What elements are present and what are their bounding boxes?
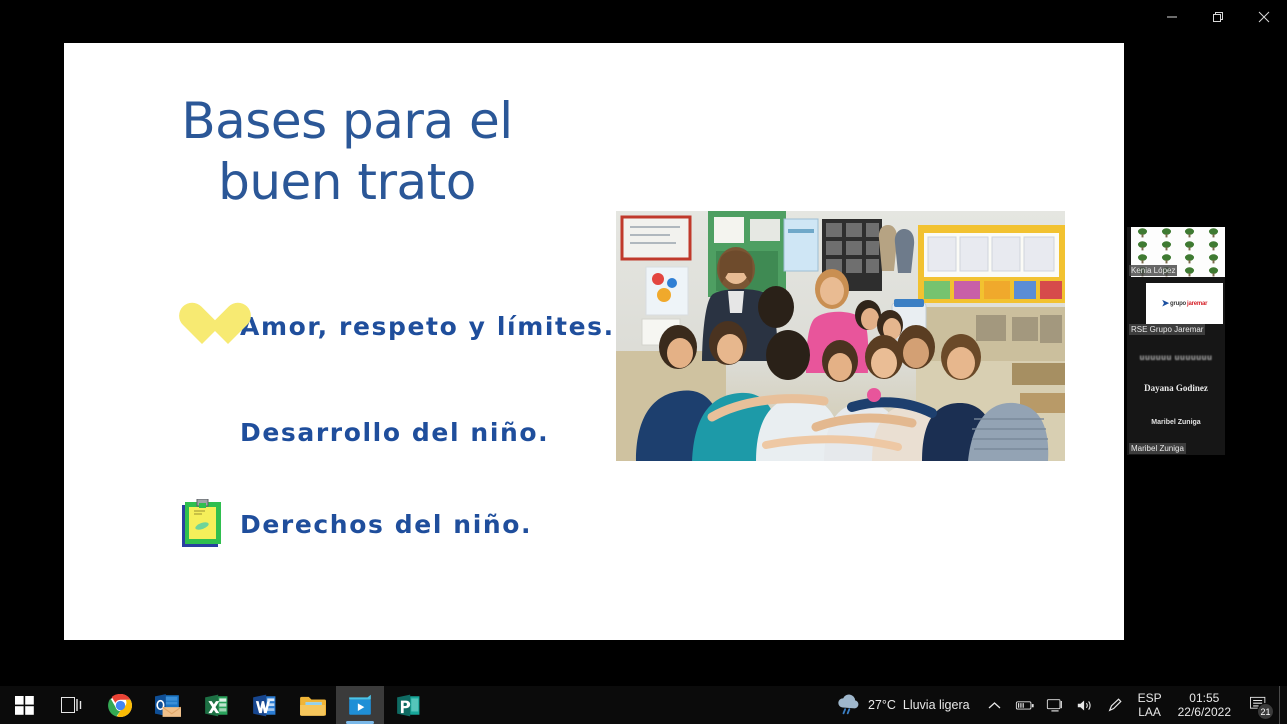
slide-title-line-1: Bases para el (181, 92, 512, 150)
word-icon (252, 693, 276, 718)
file-explorer-taskbar-icon[interactable] (288, 686, 336, 724)
folder-icon (299, 694, 326, 717)
language-indicator[interactable]: ESP LAA (1130, 686, 1170, 724)
outlook-icon (155, 693, 181, 717)
show-desktop-button[interactable] (1279, 686, 1287, 724)
word-taskbar-icon[interactable] (240, 686, 288, 724)
participant-avatar-name: Dayana Godinez (1127, 383, 1225, 393)
publisher-taskbar-icon[interactable] (384, 686, 432, 724)
notification-count-badge: 21 (1257, 703, 1274, 720)
pen-tray-icon[interactable] (1100, 686, 1130, 724)
pen-icon (1107, 697, 1123, 713)
slide-bullet-derechos: Derechos del niño. (164, 493, 532, 555)
network-tray-icon[interactable] (1040, 686, 1070, 724)
participant-avatar-name: Maribel Zuniga (1127, 419, 1225, 426)
participant-tile-dayana-godinez[interactable]: Dayana Godinez (1127, 377, 1225, 413)
slide-title: Bases para el buen trato (127, 91, 567, 213)
tree-icon (1136, 227, 1149, 240)
outlook-taskbar-icon[interactable] (144, 686, 192, 724)
tree-icon (1160, 240, 1173, 253)
volume-tray-icon[interactable] (1070, 686, 1100, 724)
tree-icon (1207, 266, 1220, 277)
show-hidden-icons-button[interactable] (980, 686, 1010, 724)
participant-tile-kenia-lopez[interactable]: Kenia López (1127, 227, 1225, 277)
rain-cloud-icon (836, 694, 861, 716)
notifications-button[interactable]: 21 (1239, 686, 1279, 724)
slide-bullet-label: Derechos del niño. (240, 510, 532, 539)
excel-taskbar-icon[interactable] (192, 686, 240, 724)
tree-icon (1160, 227, 1173, 240)
clock-date: 22/6/2022 (1178, 705, 1231, 719)
tree-icon (1207, 240, 1220, 253)
excel-icon (204, 693, 228, 718)
participant-name-label: Kenia López (1129, 265, 1177, 276)
windows-logo-icon (15, 696, 34, 715)
task-view-button[interactable] (48, 686, 96, 724)
chrome-icon (108, 693, 133, 718)
movies-tv-icon (347, 693, 373, 717)
battery-tray-icon[interactable] (1010, 686, 1040, 724)
tree-icon (1183, 240, 1196, 253)
heart-icon (164, 295, 240, 357)
presentation-slide: Bases para el buen trato Amor, respeto y… (64, 43, 1124, 640)
task-view-icon (61, 696, 83, 714)
tree-icon (1136, 240, 1149, 253)
windows-taskbar: 27°C Lluvia ligera (0, 686, 1287, 724)
slide-bullet-label: Desarrollo del niño. (240, 418, 549, 447)
participant-tile-rse-grupo-jaremar[interactable]: ➤grupojaremar RSE Grupo Jaremar (1127, 279, 1225, 336)
clock-and-date[interactable]: 01:55 22/6/2022 (1170, 686, 1239, 724)
slide-bullet-desarrollo: Desarrollo del niño. (164, 401, 549, 463)
classroom-children-hug-photo (616, 211, 1065, 461)
clipboard-icon (164, 493, 240, 555)
slide-title-line-2: buen trato (127, 152, 567, 213)
language-line-1: ESP (1138, 691, 1162, 705)
window-titlebar (0, 0, 1287, 34)
weather-temperature: 27°C (868, 698, 896, 712)
video-call-participant-strip[interactable]: Kenia López ➤grupojaremar RSE Grupo Jare… (1127, 227, 1225, 455)
speaker-icon (1076, 698, 1094, 713)
media-player-window: Bases para el buen trato Amor, respeto y… (0, 0, 1287, 686)
jaremar-logo: ➤grupojaremar (1162, 299, 1208, 308)
slide-bullet-label: Amor, respeto y límites. (240, 312, 615, 341)
weather-widget[interactable]: 27°C Lluvia ligera (832, 686, 980, 724)
tree-icon (1207, 227, 1220, 240)
system-tray: 27°C Lluvia ligera (832, 686, 1287, 724)
tree-icon (1183, 253, 1196, 266)
tree-icon (1183, 266, 1196, 277)
clock-time: 01:55 (1189, 691, 1219, 705)
participant-name-label: RSE Grupo Jaremar (1129, 324, 1205, 335)
battery-icon (1015, 698, 1035, 712)
swoosh-icon: ➤ (1162, 299, 1169, 308)
movies-tv-taskbar-icon[interactable] (336, 686, 384, 724)
start-button[interactable] (0, 686, 48, 724)
participant-shared-logo: ➤grupojaremar (1146, 283, 1223, 324)
participant-tile-maribel-zuniga[interactable]: Maribel Zuniga Maribel Zuniga (1127, 413, 1225, 455)
participant-name-label: Maribel Zuniga (1129, 443, 1186, 454)
minimize-button[interactable] (1149, 0, 1195, 34)
bullet-icon-placeholder (164, 401, 240, 463)
language-line-2: LAA (1138, 705, 1161, 719)
slide-bullet-amor: Amor, respeto y límites. (164, 295, 615, 357)
publisher-icon (396, 693, 420, 718)
participant-tile-blurred[interactable]: uuuuuu uuuuuuu (1127, 339, 1225, 377)
tree-icon (1207, 253, 1220, 266)
chevron-up-icon (988, 701, 1001, 710)
participant-avatar-name: uuuuuu uuuuuuu (1127, 353, 1225, 362)
photo-graphic (616, 211, 1065, 461)
close-button[interactable] (1241, 0, 1287, 34)
weather-description: Lluvia ligera (903, 698, 970, 712)
network-monitor-icon (1046, 698, 1064, 713)
chrome-taskbar-icon[interactable] (96, 686, 144, 724)
restore-button[interactable] (1195, 0, 1241, 34)
tree-icon (1183, 227, 1196, 240)
